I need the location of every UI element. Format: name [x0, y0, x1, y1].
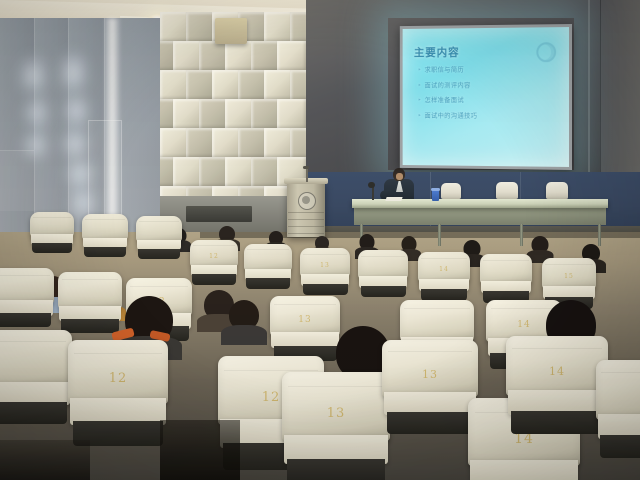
seat-fold: [130, 286, 188, 287]
auditorium-seat[interactable]: [82, 214, 128, 256]
seat-number: 13: [382, 368, 478, 381]
seat-base: [192, 274, 235, 285]
auditorium-seat[interactable]: [596, 360, 640, 456]
list-item: ‣求职信与简历: [418, 64, 478, 74]
seat-back: [244, 244, 292, 271]
auditorium-seat[interactable]: 13: [382, 340, 478, 432]
lectern-emblem-center: [302, 196, 310, 204]
auditorium-seat[interactable]: 14: [418, 252, 470, 300]
seat-skirt: [470, 460, 578, 480]
seat-back: [82, 214, 128, 240]
seat-number: 13: [300, 262, 350, 269]
seat-base: [387, 412, 473, 434]
slide-bullet-text: 怎样准备面试: [425, 96, 464, 104]
head-table-chair[interactable]: [496, 182, 518, 199]
table-leg: [438, 224, 441, 246]
head-table-chair[interactable]: [441, 183, 461, 199]
lecture-hall-photo: 主要内容 ‣求职信与简历 ‣面试的测评内容 ‣怎样准备面试 ‣面试中的沟通技巧: [0, 0, 640, 480]
seat-back: [136, 216, 182, 242]
seat-fold: [193, 245, 235, 246]
wall-vent-grille: [186, 206, 252, 222]
microphone-stand: [372, 186, 374, 200]
wall-speaker-icon: [215, 18, 247, 44]
slide-bullet-text: 求职信与简历: [425, 66, 464, 74]
seat-number: 15: [542, 273, 596, 280]
bullet-marker: ‣: [418, 96, 422, 104]
auditorium-seat[interactable]: 13: [300, 248, 350, 294]
wall-left-edge-glow: [104, 18, 120, 234]
table-leg: [598, 224, 601, 246]
wall-pillar-right: [600, 0, 640, 200]
slide-bullet-text: 面试的测评内容: [425, 81, 471, 89]
head-table-chair[interactable]: [546, 182, 568, 199]
auditorium-seat[interactable]: [58, 272, 122, 332]
seat-fold: [247, 249, 289, 250]
auditorium-seat[interactable]: [0, 330, 72, 422]
list-item: ‣面试的测评内容: [418, 79, 478, 89]
auditorium-seat[interactable]: 12: [68, 340, 168, 444]
seat-base: [246, 278, 289, 289]
cup-icon: [432, 190, 439, 201]
seat-fold: [62, 279, 118, 280]
projection-screen: 主要内容 ‣求职信与简历 ‣面试的测评内容 ‣怎样准备面试 ‣面试中的沟通技巧: [403, 27, 569, 167]
speaker-face: [396, 173, 403, 180]
bullet-marker: ‣: [418, 81, 422, 89]
projection-screen-frame: 主要内容 ‣求职信与简历 ‣面试的测评内容 ‣怎样准备面试 ‣面试中的沟通技巧: [400, 24, 572, 170]
seat-fold: [404, 308, 469, 309]
wall-seam: [600, 0, 601, 190]
lectern-panel-line: [288, 212, 324, 213]
acoustic-tile: [277, 99, 307, 129]
wall-seam: [588, 0, 590, 186]
bullet-marker: ‣: [418, 66, 422, 74]
seat-fold: [33, 217, 72, 218]
seat-fold: [421, 258, 467, 259]
auditorium-seat[interactable]: [480, 254, 532, 302]
seat-base: [84, 247, 125, 257]
lectern-panel-line: [288, 233, 324, 234]
seat-back: [58, 272, 122, 309]
wall-light-wash: [64, 94, 88, 128]
seat-back: [596, 360, 640, 420]
acoustic-tile: [277, 41, 307, 71]
seat-fold: [0, 275, 50, 276]
table-leg: [520, 224, 523, 246]
auditorium-seat[interactable]: [136, 216, 182, 258]
auditorium-seat[interactable]: 14: [506, 336, 608, 432]
seat-back: [358, 250, 408, 279]
paper-sheet: [385, 197, 402, 201]
seat-base: [138, 249, 179, 259]
seat-fold: [303, 254, 347, 255]
seat-number: 12: [190, 253, 238, 260]
lectern-panel-line: [288, 219, 324, 220]
seat-base: [0, 313, 51, 327]
audience-person-with-backpack: [224, 300, 264, 342]
person-shoulders: [221, 325, 267, 345]
slide-logo-icon: [536, 42, 556, 62]
head-table-skirt: [354, 207, 606, 225]
wall-light-wash: [24, 96, 48, 130]
seat-number: 13: [270, 315, 340, 325]
seat-base: [0, 402, 67, 424]
auditorium-seat[interactable]: [30, 212, 74, 252]
microphone-icon: [368, 182, 375, 188]
seat-fold: [85, 219, 125, 220]
seat-fold: [388, 351, 472, 352]
seat-base: [361, 286, 406, 297]
seat-fold: [288, 386, 383, 387]
slide-bullet-text: 面试中的沟通技巧: [425, 111, 478, 119]
auditorium-seat[interactable]: 12: [190, 240, 238, 284]
list-item: ‣面试中的沟通技巧: [418, 109, 478, 119]
aisle-shadow: [0, 440, 90, 480]
seat-base: [511, 411, 603, 434]
wall-light-wash: [60, 52, 86, 94]
seat-fold: [224, 370, 317, 371]
seat-fold: [0, 341, 66, 342]
seat-fold: [139, 221, 179, 222]
seat-fold: [274, 304, 336, 305]
seat-base: [600, 435, 640, 458]
auditorium-seat[interactable]: [358, 250, 408, 296]
seat-fold: [601, 372, 640, 373]
auditorium-seat[interactable]: 13: [282, 372, 390, 480]
seat-back: [30, 212, 74, 237]
seat-fold: [361, 256, 405, 257]
bullet-marker: ‣: [418, 111, 422, 119]
lectern-panel-line: [288, 226, 324, 227]
auditorium-seat[interactable]: [244, 244, 292, 288]
seat-base: [303, 284, 348, 295]
seat-fold: [512, 348, 602, 349]
aisle-shadow: [160, 420, 240, 480]
wall-light-wash: [20, 56, 46, 96]
seat-fold: [483, 260, 529, 261]
list-item: ‣怎样准备面试: [418, 94, 478, 104]
microphone-icon: [303, 166, 309, 169]
wall-left-lower-panel: [0, 150, 34, 211]
seat-back: [0, 330, 72, 387]
seat-back: [480, 254, 532, 284]
seat-number: 14: [506, 365, 608, 378]
seat-fold: [74, 353, 162, 354]
seat-fold: [545, 264, 593, 265]
slide-title: 主要内容: [414, 44, 460, 60]
microphone-stand: [306, 168, 308, 182]
seat-base: [32, 243, 72, 253]
cup-lid: [431, 188, 440, 191]
seat-number: 14: [418, 266, 470, 273]
auditorium-seat[interactable]: [0, 268, 54, 326]
seat-base: [287, 459, 384, 480]
wall-light-wash: [62, 128, 88, 160]
seat-number: 12: [68, 371, 168, 386]
slide-bullet-list: ‣求职信与简历 ‣面试的测评内容 ‣怎样准备面试 ‣面试中的沟通技巧: [418, 64, 478, 125]
seat-back: [400, 300, 474, 341]
seat-number: 13: [282, 406, 390, 421]
seat-back: [0, 268, 54, 304]
